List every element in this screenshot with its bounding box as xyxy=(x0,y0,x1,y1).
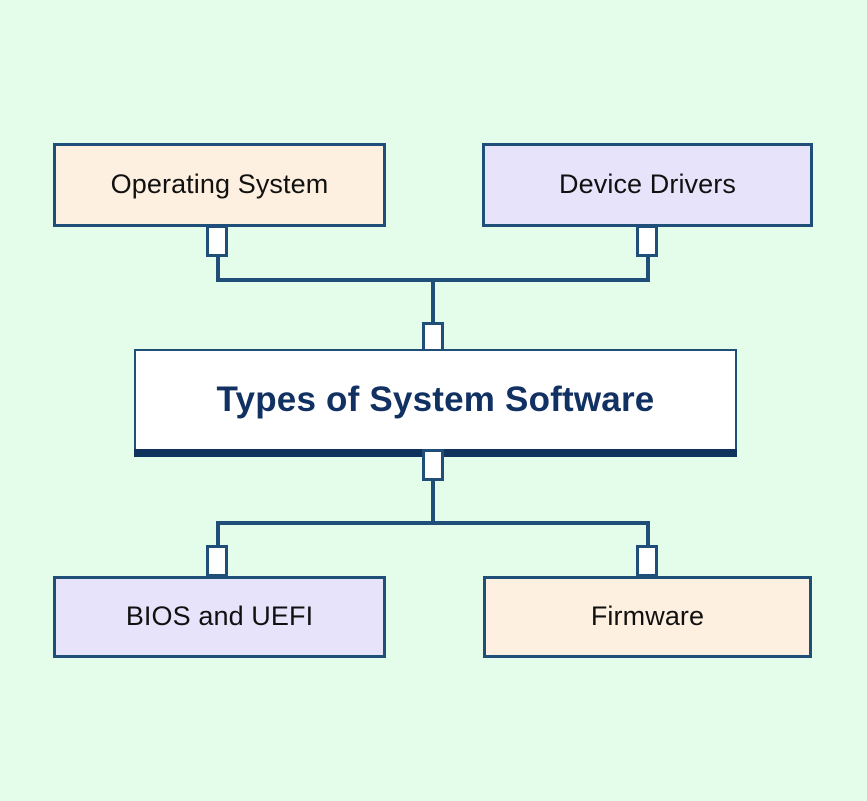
connector-horizontal-bottom-bus xyxy=(216,521,650,525)
connector-vertical-top-to-center xyxy=(431,278,435,326)
node-firmware[interactable]: Firmware xyxy=(483,576,812,658)
connector-vertical-center-to-bottom xyxy=(431,479,435,525)
node-label-firmware: Firmware xyxy=(591,601,704,632)
connector-clip-bios-and-uefi xyxy=(206,545,228,577)
connector-clip-firmware xyxy=(636,545,658,577)
node-operating-system[interactable]: Operating System xyxy=(53,143,386,227)
node-label-bios-and-uefi: BIOS and UEFI xyxy=(126,601,313,632)
connector-vertical-firmware xyxy=(646,521,650,547)
connector-clip-device-drivers xyxy=(636,225,658,257)
connector-vertical-bios-and-uefi xyxy=(216,521,220,547)
node-bios-and-uefi[interactable]: BIOS and UEFI xyxy=(53,576,386,658)
diagram-canvas: Operating System Device Drivers Types of… xyxy=(0,0,867,801)
node-label-device-drivers: Device Drivers xyxy=(559,169,736,200)
node-device-drivers[interactable]: Device Drivers xyxy=(482,143,813,227)
node-label-operating-system: Operating System xyxy=(111,169,329,200)
connector-clip-operating-system xyxy=(206,225,228,257)
center-node-types-of-system-software[interactable]: Types of System Software xyxy=(134,349,737,451)
connector-clip-center-bottom xyxy=(422,449,444,481)
center-node-label: Types of System Software xyxy=(217,380,655,420)
